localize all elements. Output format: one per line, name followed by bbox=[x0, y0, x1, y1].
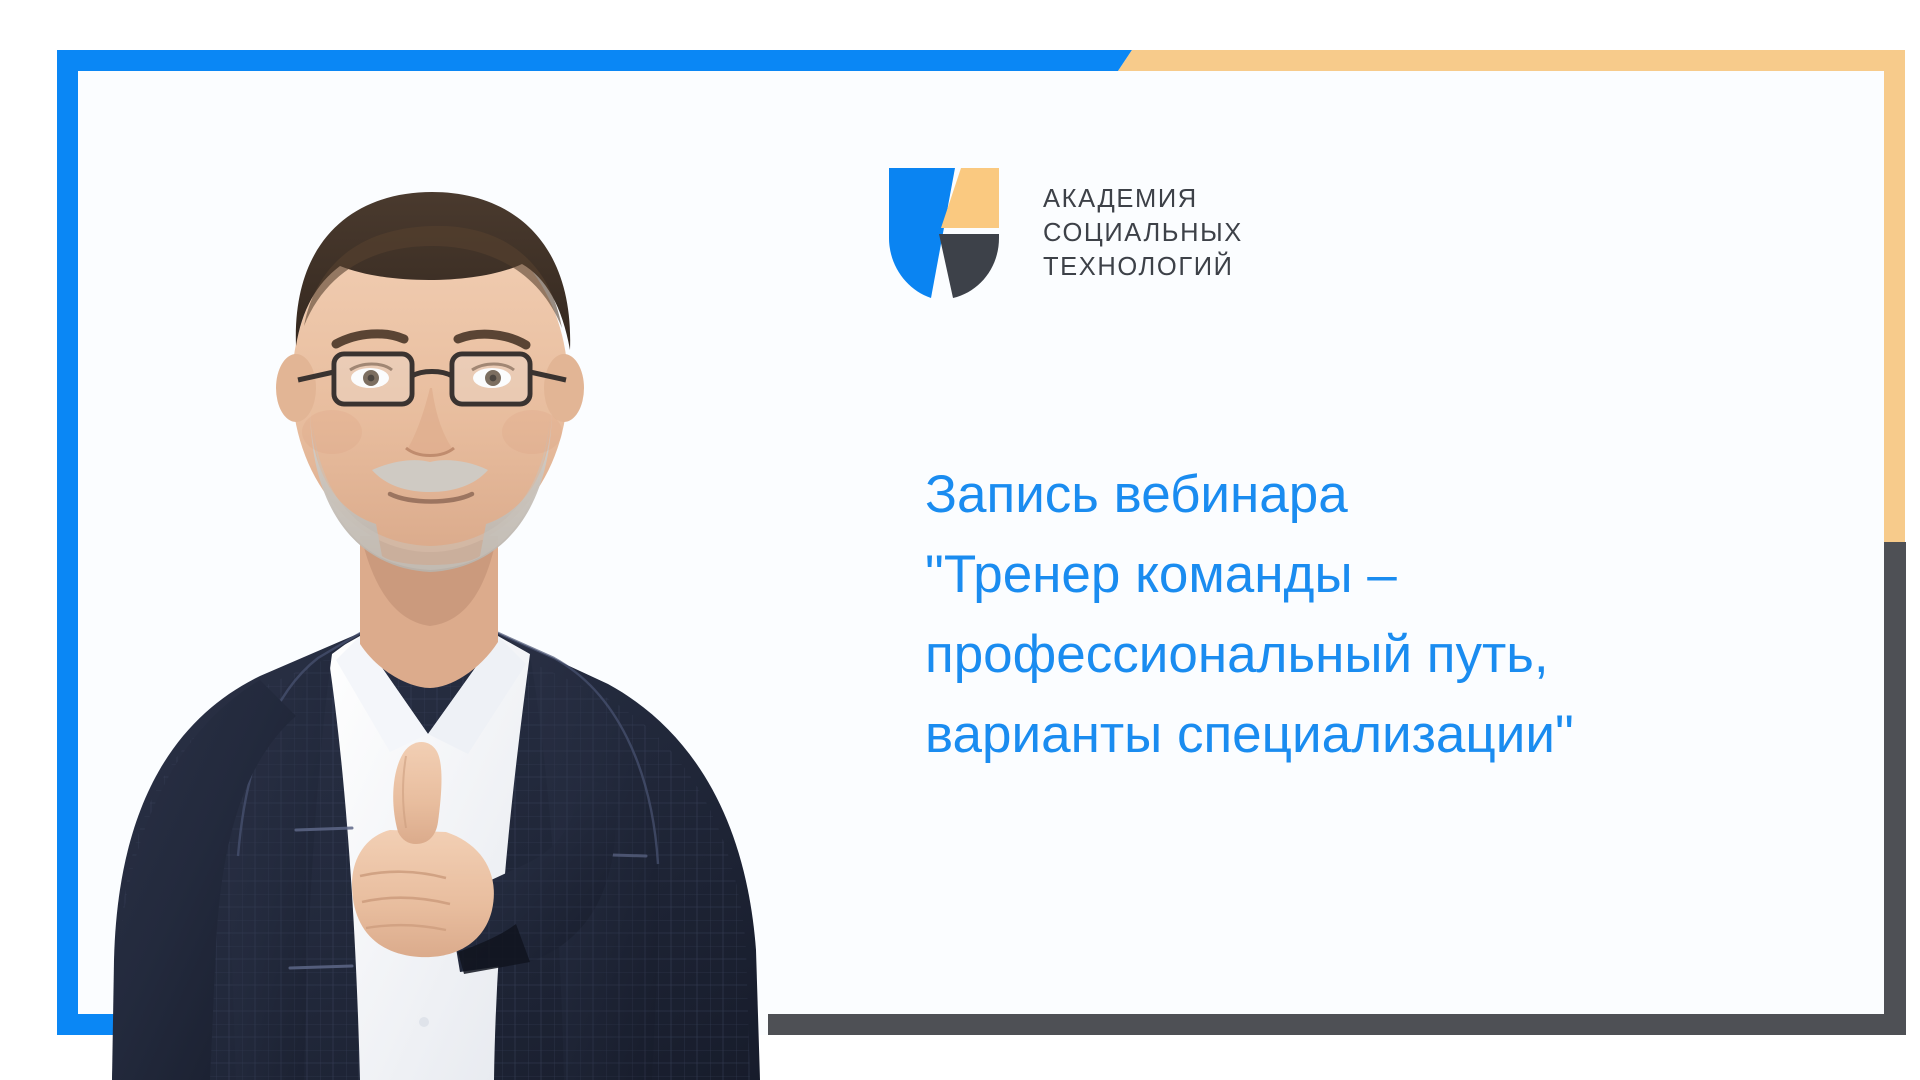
slide-canvas: АКАДЕМИЯ СОЦИАЛЬНЫХ ТЕХНОЛОГИЙ Запись ве… bbox=[0, 0, 1920, 1080]
frame-bottom-dark-bar bbox=[768, 1014, 1906, 1035]
frame-top-orange-bar bbox=[1118, 50, 1905, 71]
shield-logo-mark bbox=[885, 166, 1003, 300]
title-line-1: Запись вебинара bbox=[925, 455, 1765, 535]
title-line-4: варианты специализации" bbox=[925, 695, 1765, 775]
frame-right-dark-bar bbox=[1884, 542, 1906, 1035]
logo-line-3: ТЕХНОЛОГИЙ bbox=[1043, 250, 1243, 284]
brand-logo: АКАДЕМИЯ СОЦИАЛЬНЫХ ТЕХНОЛОГИЙ bbox=[885, 166, 1243, 300]
title-line-2: "Тренер команды – bbox=[925, 535, 1765, 615]
frame-right-orange-bar bbox=[1884, 50, 1905, 542]
webinar-title: Запись вебинара "Тренер команды – профес… bbox=[925, 455, 1765, 775]
logo-line-2: СОЦИАЛЬНЫХ bbox=[1043, 216, 1243, 250]
title-line-3: профессиональный путь, bbox=[925, 615, 1765, 695]
brand-logo-text: АКАДЕМИЯ СОЦИАЛЬНЫХ ТЕХНОЛОГИЙ bbox=[1043, 182, 1243, 284]
speaker-portrait bbox=[60, 88, 800, 1080]
frame-top-blue-bar bbox=[57, 50, 1132, 71]
logo-line-1: АКАДЕМИЯ bbox=[1043, 182, 1243, 216]
